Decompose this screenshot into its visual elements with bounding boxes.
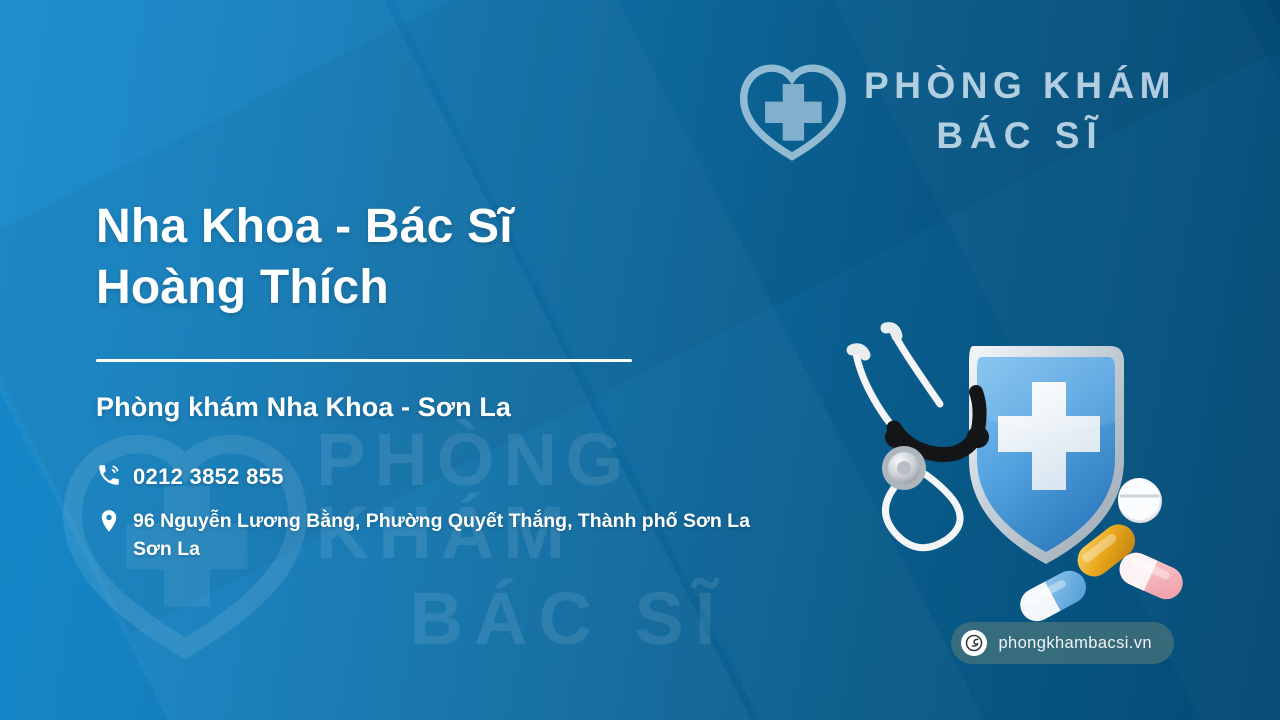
brand-logo-line2: BÁC SĨ <box>864 117 1176 154</box>
heart-medical-cross-icon <box>736 58 848 162</box>
address-text: 96 Nguyễn Lương Bằng, Phường Quyết Thắng… <box>133 507 750 564</box>
clinic-subtitle: Phòng khám Nha Khoa - Sơn La <box>96 392 756 423</box>
contact-row-phone[interactable]: 0212 3852 855 <box>96 461 756 493</box>
map-pin-icon <box>96 508 122 534</box>
white-round-tablet <box>1118 478 1162 523</box>
medical-illustration <box>838 312 1198 642</box>
clinic-title-line1: Nha Khoa - Bác Sĩ <box>96 200 513 253</box>
shield-with-cross <box>969 346 1124 564</box>
clinic-title-line2: Hoàng Thích <box>96 261 389 314</box>
phone-number: 0212 3852 855 <box>133 461 284 493</box>
address-line2: Sơn La <box>133 538 200 560</box>
website-url: phongkhambacsi.vn <box>998 634 1152 653</box>
clinic-title: Nha Khoa - Bác Sĩ Hoàng Thích <box>96 196 756 319</box>
clinic-info-block: Nha Khoa - Bác Sĩ Hoàng Thích Phòng khám… <box>96 196 756 563</box>
brand-logo: PHÒNG KHÁM BÁC SĨ <box>736 58 1176 162</box>
phone-call-icon <box>96 462 122 488</box>
contact-row-address[interactable]: 96 Nguyễn Lương Bằng, Phường Quyết Thắng… <box>96 507 756 564</box>
globe-icon <box>961 630 987 656</box>
address-line1: 96 Nguyễn Lương Bằng, Phường Quyết Thắng… <box>133 510 750 532</box>
title-divider <box>96 359 632 362</box>
brand-logo-line1: PHÒNG KHÁM <box>864 67 1176 104</box>
clinic-banner: PHÒNG KHÁM BÁC SĨ PHÒNG KHÁM BÁC SĨ Nha … <box>0 0 1280 720</box>
contact-list: 0212 3852 855 96 Nguyễn Lương Bằng, Phườ… <box>96 461 756 563</box>
watermark-line2: BÁC SĨ <box>316 583 820 656</box>
blue-white-capsule <box>1014 565 1091 627</box>
brand-logo-text: PHÒNG KHÁM BÁC SĨ <box>864 67 1176 154</box>
stethoscope <box>852 328 989 548</box>
website-badge[interactable]: phongkhambacsi.vn <box>951 622 1174 664</box>
